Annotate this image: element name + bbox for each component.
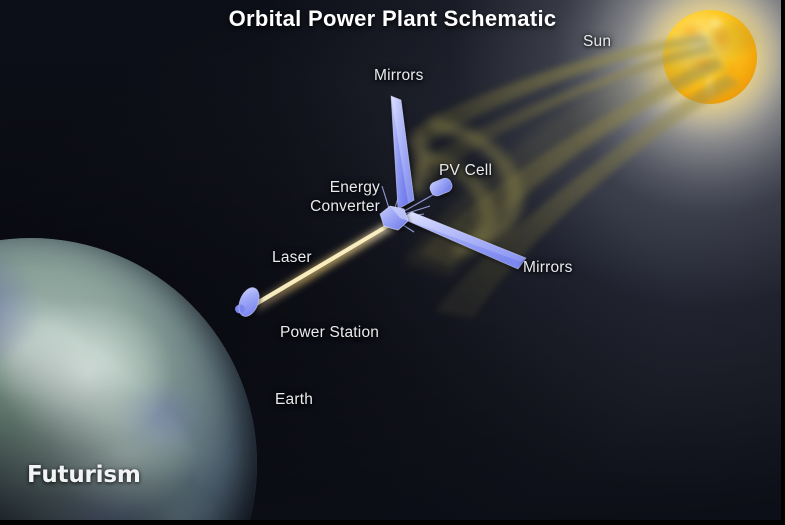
label-mirrors-bottom: Mirrors — [523, 258, 573, 277]
schematic-diagram: Orbital Power Plant Schematic Sun Mirror… — [0, 0, 785, 525]
label-sun: Sun — [583, 32, 611, 51]
label-power-station: Power Station — [280, 323, 379, 342]
watermark-logo: Futurism — [27, 462, 141, 488]
label-pv-cell: PV Cell — [439, 161, 492, 180]
label-energy-converter-line2: Converter — [248, 197, 380, 216]
label-energy-converter: Energy Converter — [248, 178, 380, 216]
label-laser: Laser — [272, 248, 312, 267]
label-earth: Earth — [275, 390, 313, 409]
label-energy-converter-line1: Energy — [248, 178, 380, 197]
label-mirrors-top: Mirrors — [374, 66, 424, 85]
page-title: Orbital Power Plant Schematic — [0, 6, 785, 32]
